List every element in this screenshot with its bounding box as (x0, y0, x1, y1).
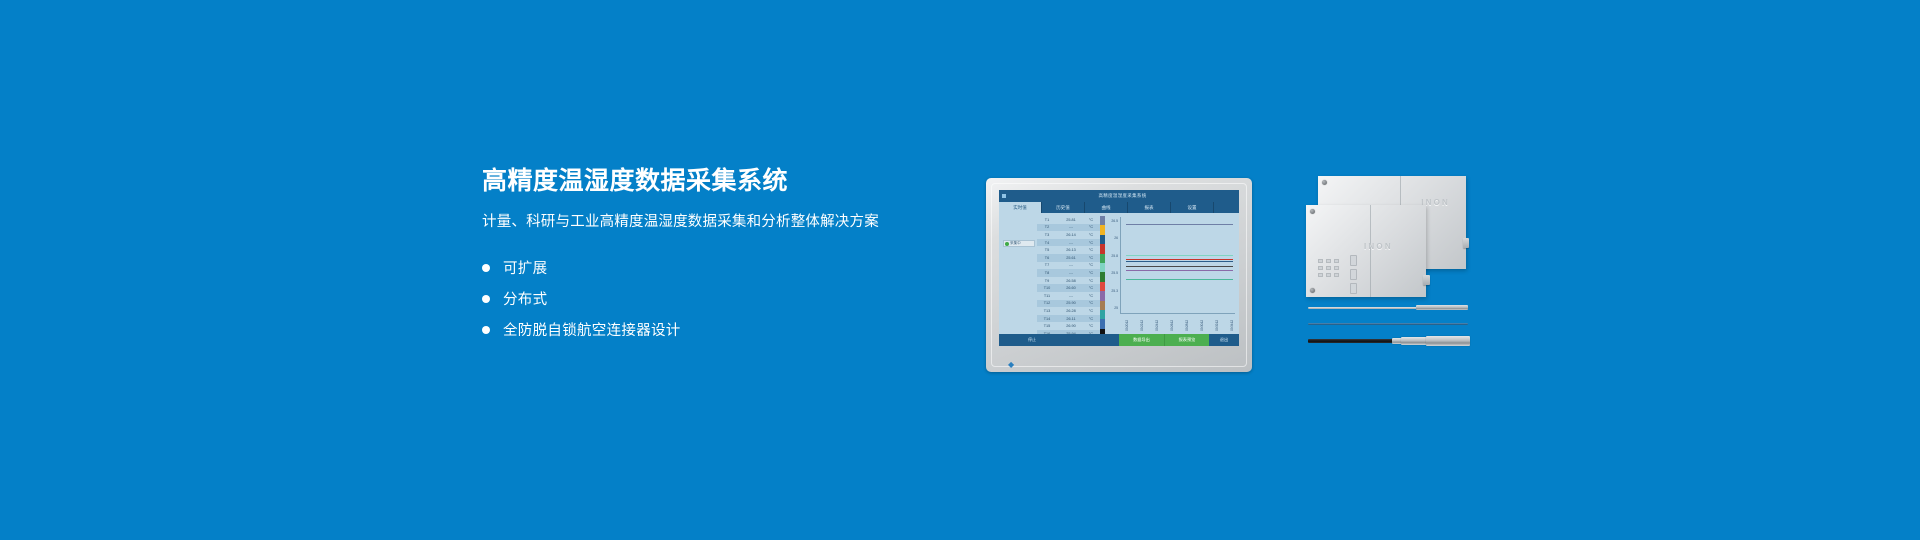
channel-readout-table: T125.81°CT2---°CT326.14°CT4---°CT526.13°… (1037, 216, 1100, 338)
chart-y-tick-label: 25.5 (1111, 271, 1118, 275)
cell-value: 26.28 (1057, 309, 1085, 313)
side-connector (1463, 238, 1469, 248)
feature-list: 可扩展 分布式 全防脱自锁航空连接器设计 (482, 252, 952, 345)
cell-channel: T12 (1037, 301, 1057, 305)
cell-value: 25.61 (1057, 256, 1085, 260)
cell-unit: °C (1085, 294, 1097, 298)
aviation-port (1350, 283, 1357, 294)
status-dot-icon (1005, 242, 1009, 246)
cell-value: 26.60 (1057, 286, 1085, 290)
chart-x-tick-label: 09:32:12 (1215, 320, 1219, 331)
screw-icon (1322, 180, 1327, 185)
app-window-title: 高精度温湿度采集系统 (1006, 193, 1239, 199)
table-row[interactable]: T7---°C (1037, 262, 1100, 270)
table-row[interactable]: T1526.90°C (1037, 322, 1100, 330)
legend-color-swatch (1100, 263, 1105, 272)
feature-label: 可扩展 (503, 257, 547, 278)
legend-color-swatch (1100, 301, 1105, 310)
side-connector (1423, 275, 1430, 285)
cell-unit: °C (1085, 271, 1097, 275)
aviation-connector-shell (1426, 336, 1470, 346)
probe-cable (1308, 323, 1468, 325)
feature-item: 可扩展 (482, 252, 952, 283)
table-row[interactable]: T526.13°C (1037, 246, 1100, 254)
screw-icon (1310, 288, 1315, 293)
cell-channel: T8 (1037, 271, 1057, 275)
table-row[interactable]: T125.81°C (1037, 216, 1100, 224)
legend-color-swatch (1100, 225, 1105, 234)
cell-unit: °C (1085, 233, 1097, 237)
feature-item: 分布式 (482, 283, 952, 314)
cell-value: 25.81 (1057, 218, 1085, 222)
black-cable-aviation-connector-probe (1308, 336, 1470, 347)
app-title-bar: 高精度温湿度采集系统 (999, 190, 1239, 201)
chart-y-tick-label: 25.8 (1111, 254, 1118, 258)
chart-series-line (1126, 255, 1233, 256)
cell-channel: T15 (1037, 324, 1057, 328)
chart-x-tick-label: 09:26:12 (1170, 320, 1174, 331)
cell-unit: °C (1085, 218, 1097, 222)
cell-channel: T5 (1037, 248, 1057, 252)
terminal-pad (1318, 273, 1323, 277)
chart-y-tick-label: 25.3 (1111, 289, 1118, 293)
feature-label: 全防脱自锁航空连接器设计 (503, 319, 681, 340)
module-seam (1370, 205, 1371, 297)
chart-x-tick-label: 09:34:12 (1230, 320, 1234, 331)
cell-unit: °C (1085, 248, 1097, 252)
aviation-port (1350, 269, 1357, 280)
table-row[interactable]: T4---°C (1037, 239, 1100, 247)
bullet-icon (482, 264, 490, 272)
cell-unit: °C (1085, 324, 1097, 328)
monitor-chin: ◆ (986, 356, 1252, 372)
screw-icon (1310, 209, 1315, 214)
cell-unit: °C (1085, 279, 1097, 283)
tab-realtime[interactable]: 实时值 (999, 202, 1042, 213)
app-tab-bar: 实时值 历史值 曲线 报表 设置 (999, 201, 1239, 213)
chart-series-line (1126, 259, 1233, 260)
chart-series-line (1126, 224, 1233, 225)
cell-value: --- (1057, 225, 1085, 229)
table-row[interactable]: T625.61°C (1037, 254, 1100, 262)
cell-value: 26.58 (1057, 279, 1085, 283)
tab-report[interactable]: 报表 (1128, 202, 1171, 213)
cell-unit: °C (1085, 263, 1097, 267)
legend-color-swatch (1100, 254, 1105, 263)
table-row[interactable]: T8---°C (1037, 269, 1100, 277)
cell-channel: T10 (1037, 286, 1057, 290)
legend-color-swatch (1100, 319, 1105, 328)
feature-item: 全防脱自锁航空连接器设计 (482, 314, 952, 345)
cell-value: 26.13 (1057, 248, 1085, 252)
cell-value: --- (1057, 241, 1085, 245)
legend-color-swatch (1100, 244, 1105, 253)
terminal-pad (1318, 259, 1323, 263)
cell-channel: T6 (1037, 256, 1057, 260)
stop-button[interactable]: 停止 (1019, 336, 1045, 344)
legend-color-swatch (1100, 235, 1105, 244)
chart-series-line (1126, 270, 1233, 271)
chart-y-tick-label: 26 (1114, 236, 1118, 240)
probe-cable (1308, 339, 1394, 343)
hero-text-block: 高精度温湿度数据采集系统 计量、科研与工业高精度温湿度数据采集和分析整体解决方案… (482, 168, 952, 345)
legend-color-swatch (1100, 282, 1105, 291)
report-preview-button[interactable]: 报表预览 (1164, 334, 1209, 346)
chart-series-line (1126, 261, 1233, 262)
chart-x-tick-label: 09:30:12 (1200, 320, 1204, 331)
page-title: 高精度温湿度数据采集系统 (482, 168, 952, 196)
legend-color-swatch (1100, 216, 1105, 225)
tab-settings[interactable]: 设置 (1171, 202, 1214, 213)
chart-y-tick-label: 26.5 (1111, 219, 1118, 223)
table-row[interactable]: T2---°C (1037, 224, 1100, 232)
probe-tip (1416, 305, 1468, 311)
chart-x-tick-label: 09:22:12 (1140, 320, 1144, 331)
chart-plot-area (1120, 217, 1235, 314)
cell-channel: T1 (1037, 218, 1057, 222)
cell-channel: T4 (1037, 241, 1057, 245)
table-row[interactable]: T1225.90°C (1037, 300, 1100, 308)
cell-channel: T2 (1037, 225, 1057, 229)
hardware-group: INON INON (1306, 176, 1476, 376)
connector-body (1401, 337, 1427, 345)
cell-value: --- (1057, 263, 1085, 267)
table-row[interactable]: T926.58°C (1037, 277, 1100, 285)
cell-value: --- (1057, 294, 1085, 298)
monitor-screen: 高精度温湿度采集系统 实时值 历史值 曲线 报表 设置 采集中 T125.81°… (999, 190, 1239, 346)
chart-x-axis: 09:20:1209:22:1209:24:1209:26:1209:28:12… (1120, 314, 1235, 331)
series-color-legend (1100, 216, 1105, 338)
cell-unit: °C (1085, 241, 1097, 245)
cell-channel: T13 (1037, 309, 1057, 313)
terminal-pad (1326, 259, 1331, 263)
trend-chart: 26.52625.825.525.325 09:20:1209:22:1209:… (1107, 215, 1237, 332)
terminal-pad (1326, 266, 1331, 270)
feature-label: 分布式 (503, 288, 547, 309)
brand-logo: INON (1364, 242, 1393, 251)
acquisition-module-front: INON (1306, 205, 1426, 297)
page-subtitle: 计量、科研与工业高精度温湿度数据采集和分析整体解决方案 (482, 213, 952, 232)
status-label: 采集中 (1010, 241, 1021, 246)
chart-x-tick-label: 09:20:12 (1125, 320, 1129, 331)
chart-series-line (1126, 266, 1233, 267)
terminal-pad (1334, 259, 1339, 263)
app-content-area: 采集中 T125.81°CT2---°CT326.14°CT4---°CT526… (999, 213, 1239, 334)
table-row[interactable]: T1326.28°C (1037, 307, 1100, 315)
cell-value: 26.14 (1057, 233, 1085, 237)
cell-unit: °C (1085, 256, 1097, 260)
cell-unit: °C (1085, 301, 1097, 305)
terminal-pad (1334, 266, 1339, 270)
bullet-icon (482, 295, 490, 303)
terminal-pad (1326, 273, 1331, 277)
cell-unit: °C (1085, 309, 1097, 313)
bullet-icon (482, 326, 490, 334)
table-row[interactable]: T326.14°C (1037, 231, 1100, 239)
cell-channel: T11 (1037, 294, 1057, 298)
cell-value: 26.90 (1057, 324, 1085, 328)
export-data-button[interactable]: 数据导出 (1119, 334, 1164, 346)
cell-channel: T3 (1037, 233, 1057, 237)
cell-channel: T14 (1037, 317, 1057, 321)
legend-color-swatch (1100, 272, 1105, 281)
industrial-panel-monitor: 高精度温湿度采集系统 实时值 历史值 曲线 报表 设置 采集中 T125.81°… (986, 178, 1252, 372)
tab-curve[interactable]: 曲线 (1085, 202, 1128, 213)
blue-cable-probe (1308, 321, 1468, 326)
table-row[interactable]: T11---°C (1037, 292, 1100, 300)
tab-history[interactable]: 历史值 (1042, 202, 1085, 213)
steel-temperature-probe (1308, 304, 1468, 311)
cell-unit: °C (1085, 286, 1097, 290)
cell-unit: °C (1085, 225, 1097, 229)
cell-value: 25.90 (1057, 301, 1085, 305)
monitor-bezel: 高精度温湿度采集系统 实时值 历史值 曲线 报表 设置 采集中 T125.81°… (986, 178, 1252, 372)
app-footer-bar: 停止 数据导出 报表预览 退出 (999, 334, 1239, 346)
chart-y-tick-label: 25 (1114, 306, 1118, 310)
chart-series-line (1126, 279, 1233, 280)
terminal-pad (1334, 273, 1339, 277)
exit-button[interactable]: 退出 (1209, 334, 1239, 346)
vendor-logo-icon: ◆ (1008, 362, 1016, 368)
chart-x-tick-label: 09:24:12 (1155, 320, 1159, 331)
legend-color-swatch (1100, 291, 1105, 300)
cell-unit: °C (1085, 317, 1097, 321)
cell-channel: T7 (1037, 263, 1057, 267)
cell-value: 26.11 (1057, 317, 1085, 321)
cell-value: --- (1057, 271, 1085, 275)
probe-shaft (1308, 307, 1420, 310)
chart-y-axis: 26.52625.825.525.325 (1107, 215, 1119, 314)
cell-channel: T9 (1037, 279, 1057, 283)
aviation-port (1350, 255, 1357, 266)
table-row[interactable]: T1026.60°C (1037, 284, 1100, 292)
terminal-pad (1318, 266, 1323, 270)
status-badge[interactable]: 采集中 (1003, 240, 1035, 247)
table-row[interactable]: T1426.11°C (1037, 315, 1100, 323)
chart-x-tick-label: 09:28:12 (1185, 320, 1189, 331)
legend-color-swatch (1100, 310, 1105, 319)
